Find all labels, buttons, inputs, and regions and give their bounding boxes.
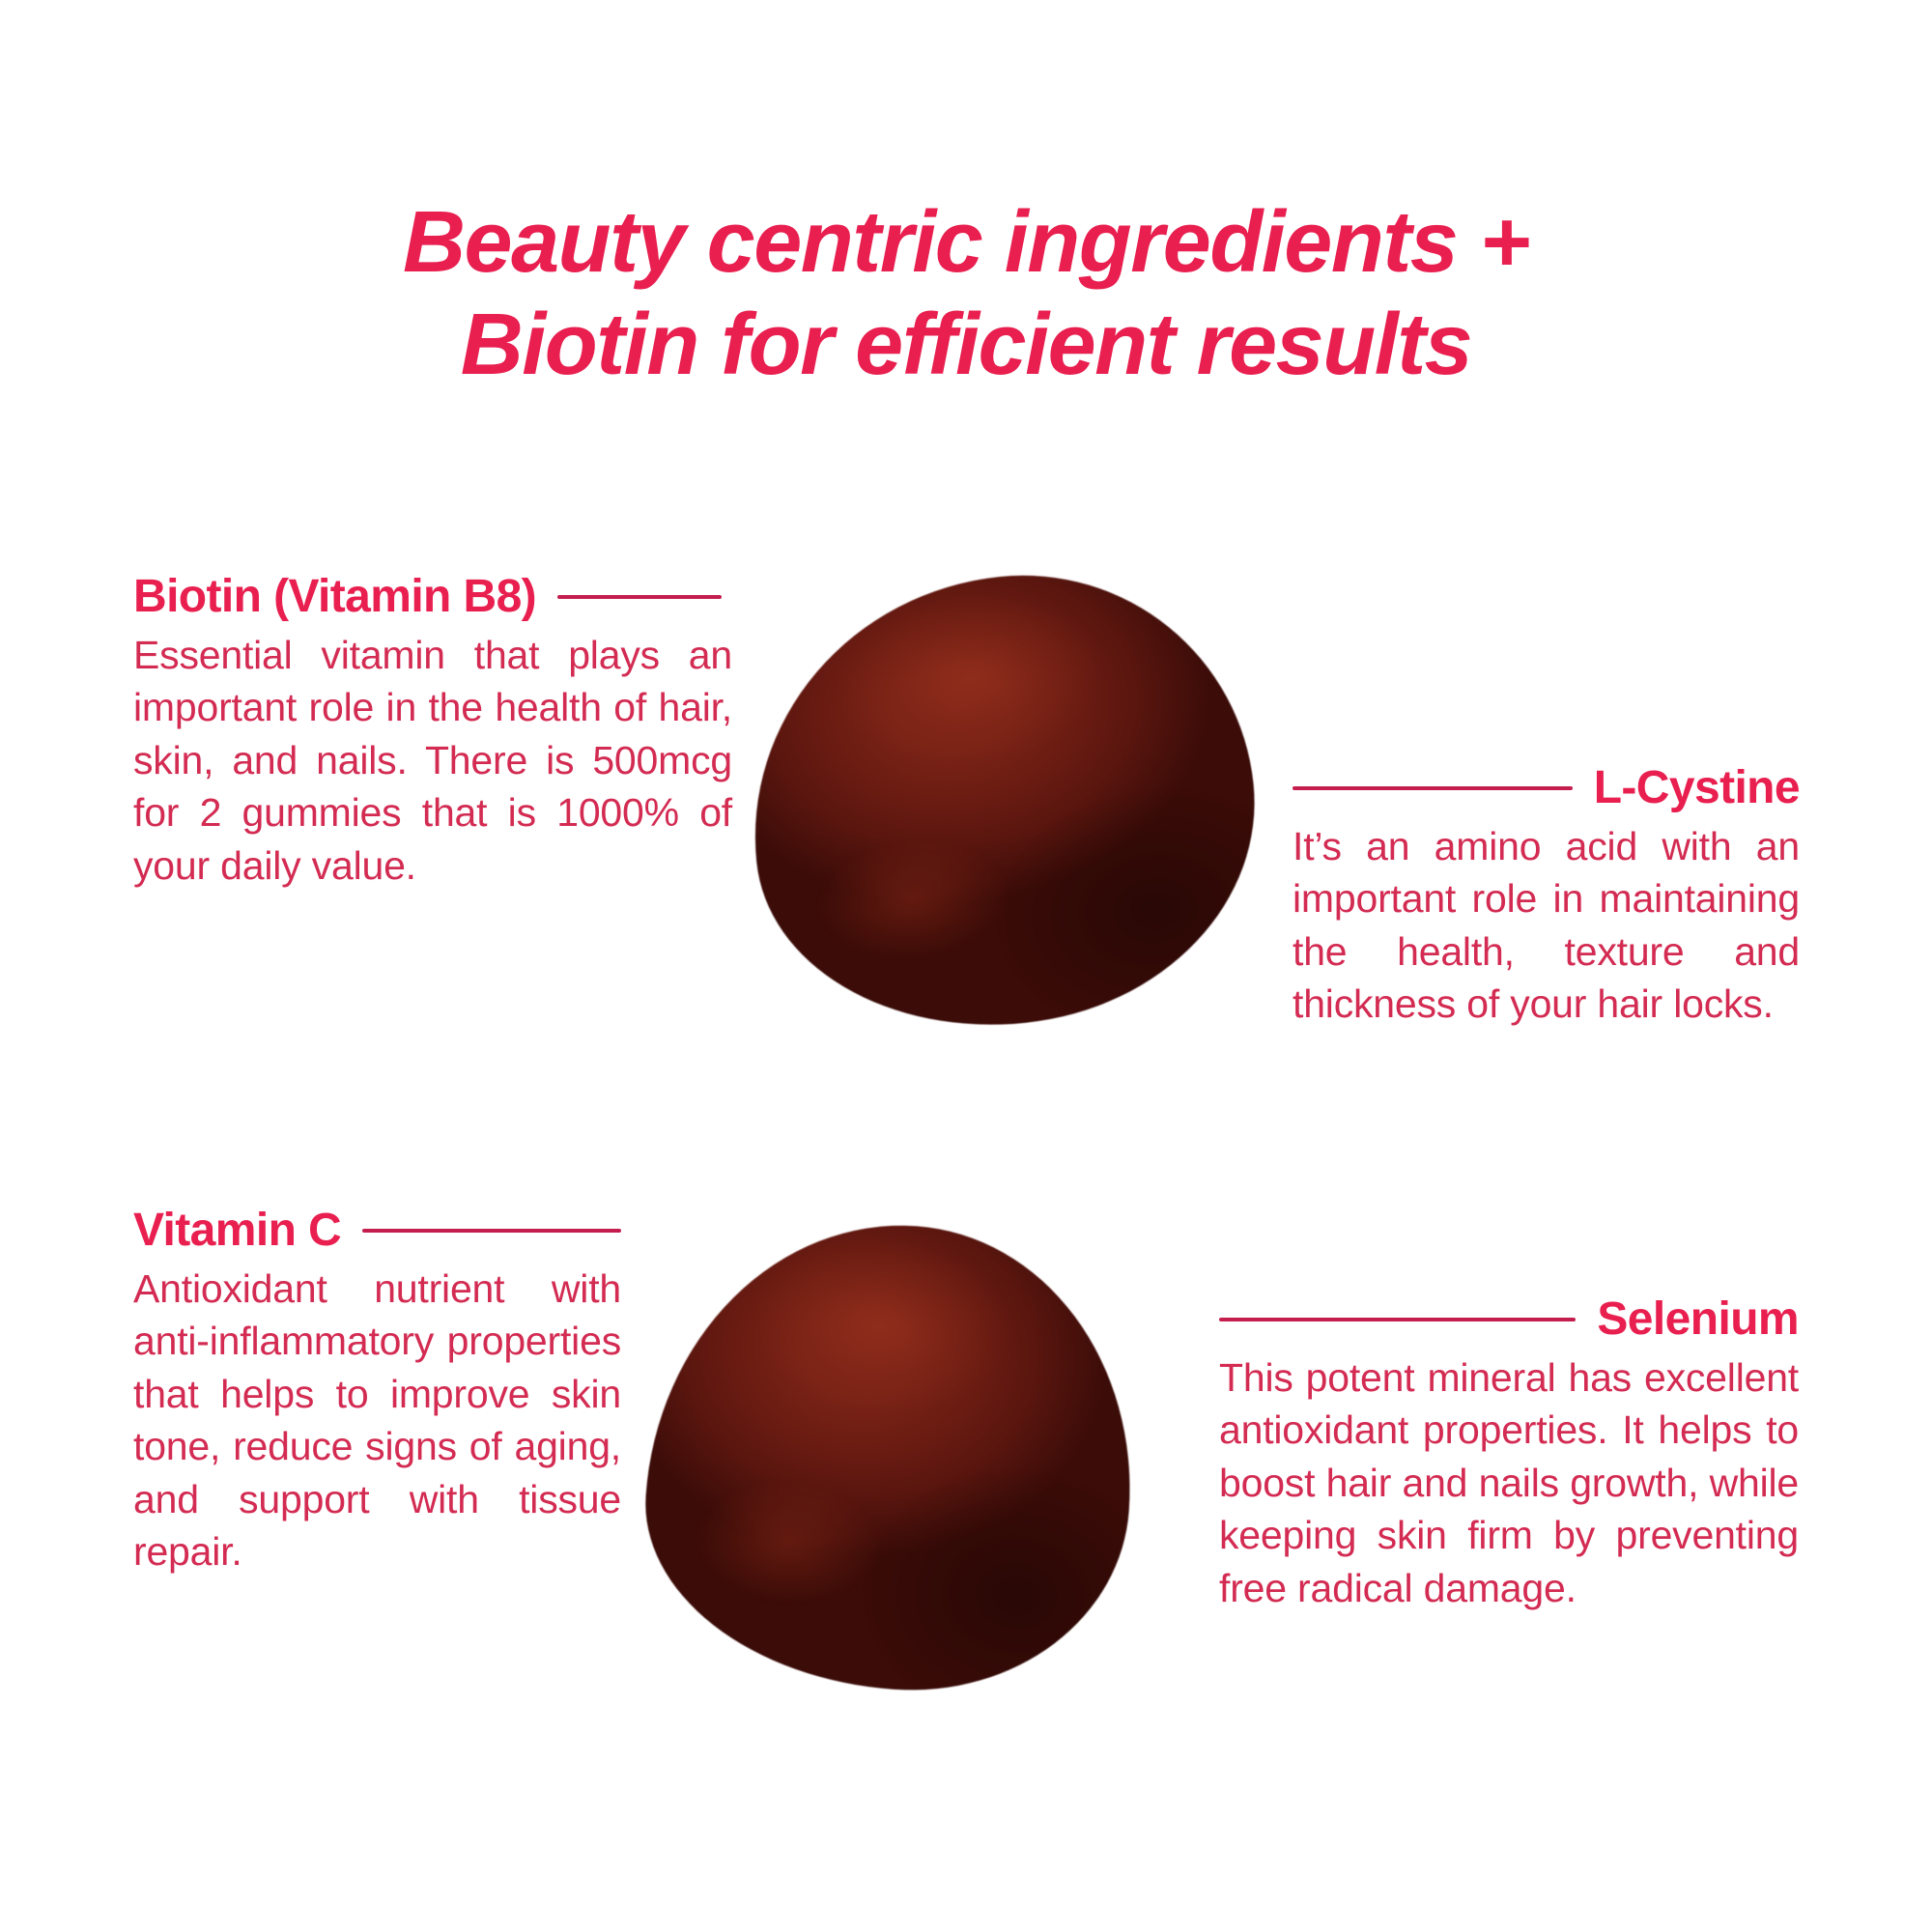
ingredient-card-vitamin-c: Vitamin C Antioxidant nutrient with anti… (133, 1206, 621, 1578)
ingredient-card-selenium: Selenium This potent mineral has excelle… (1219, 1294, 1799, 1614)
connector-line-icon (1219, 1318, 1576, 1321)
gummy-image-top (729, 553, 1275, 1049)
ingredients-infographic: Beauty centric ingredients + Biotin for … (0, 0, 1932, 1932)
ingredient-header-biotin: Biotin (Vitamin B8) (133, 572, 732, 623)
connector-line-icon (362, 1229, 621, 1233)
ingredient-title-vitamin-c: Vitamin C (133, 1206, 341, 1257)
ingredient-description-l-cystine: It’s an amino acid with an important rol… (1293, 820, 1800, 1031)
ingredient-description-vitamin-c: Antioxidant nutrient with anti-inflamma­… (133, 1263, 621, 1578)
ingredient-title-selenium: Selenium (1597, 1294, 1799, 1346)
ingredient-title-biotin: Biotin (Vitamin B8) (133, 572, 536, 623)
ingredient-header-selenium: Selenium (1219, 1294, 1799, 1346)
ingredient-card-biotin: Biotin (Vitamin B8) Essential vitamin th… (133, 572, 732, 892)
ingredient-description-biotin: Essential vitamin that plays an importan… (133, 629, 732, 893)
page-title: Beauty centric ingredients + Biotin for … (0, 191, 1932, 396)
ingredient-card-l-cystine: L-Cystine It’s an amino acid with an imp… (1293, 763, 1800, 1031)
gummy-image-bottom (634, 1208, 1148, 1705)
ingredient-description-selenium: This potent mineral has excellent antiox… (1219, 1351, 1799, 1615)
ingredient-header-l-cystine: L-Cystine (1293, 763, 1800, 814)
connector-line-icon (1293, 786, 1573, 790)
ingredient-header-vitamin-c: Vitamin C (133, 1206, 621, 1257)
title-line-2: Biotin for efficient results (0, 294, 1932, 396)
title-line-1: Beauty centric ingredients + (0, 191, 1932, 294)
ingredient-title-l-cystine: L-Cystine (1594, 763, 1800, 814)
connector-line-icon (557, 595, 722, 599)
